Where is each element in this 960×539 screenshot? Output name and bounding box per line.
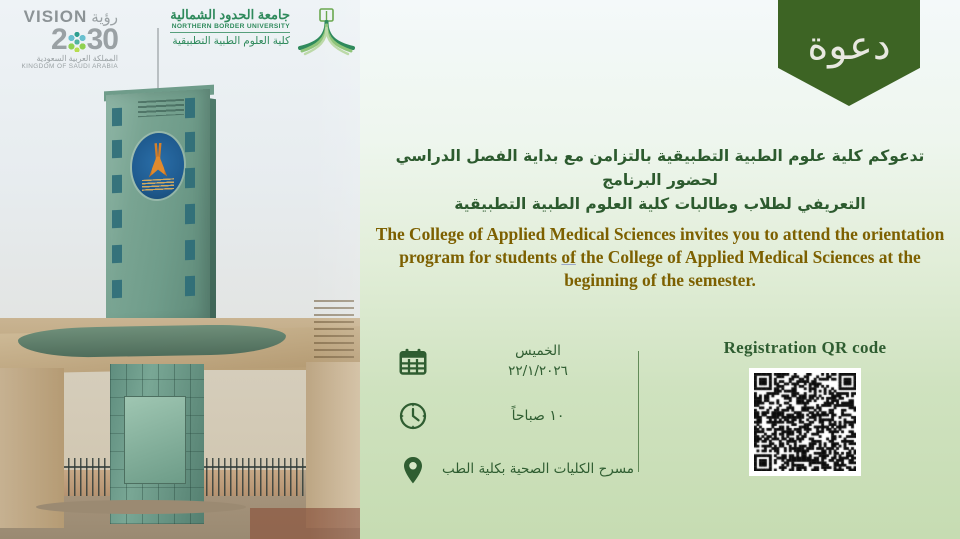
- tower-window: [185, 204, 195, 225]
- registration-qr-section: Registration QR code: [670, 338, 940, 476]
- headline-arabic-line-1: تدعوكم كلية علوم الطبية التطبيقية بالتزا…: [370, 144, 950, 192]
- detail-date-text: الخميس ٢٢/١/٢٠٢٦: [438, 342, 638, 381]
- location-icon-cell: [388, 455, 438, 485]
- detail-time-text: ١٠ صباحاً: [438, 406, 638, 426]
- university-name-en: NORTHERN BORDER UNIVERSITY: [170, 23, 290, 30]
- headline-english: The College of Applied Medical Sciences …: [370, 223, 950, 292]
- qr-code-box[interactable]: [749, 368, 861, 476]
- clock-icon-cell: [388, 401, 438, 431]
- invitation-badge-label: دعوة: [807, 26, 890, 66]
- vision-number-left: 2: [51, 23, 67, 56]
- invitation-badge: دعوة: [778, 0, 920, 106]
- calendar-icon-cell: [388, 347, 438, 377]
- headline-english-underlined: of: [561, 247, 576, 267]
- tower-window: [112, 175, 122, 194]
- university-logo: جامعة الحدود الشمالية NORTHERN BORDER UN…: [168, 6, 356, 68]
- detail-row-location: مسرح الكليات الصحية بكلية الطب: [388, 450, 638, 490]
- tower-window: [112, 140, 122, 159]
- headline-block: تدعوكم كلية علوم الطبية التطبيقية بالتزا…: [370, 144, 950, 292]
- vision-number-right: 30: [87, 23, 118, 56]
- tower-window: [185, 240, 195, 261]
- tower-window: [185, 168, 195, 189]
- university-mark-icon: [296, 8, 356, 60]
- logo-bar: VISION رؤية 230 المملكة العربية السعودية…: [0, 0, 360, 80]
- calendar-icon: [398, 347, 428, 377]
- logo-divider: [170, 32, 290, 33]
- detail-date-day: الخميس: [438, 342, 638, 362]
- detail-date-value: ٢٢/١/٢٠٢٦: [438, 362, 638, 382]
- red-paving: [250, 508, 360, 539]
- vision-subtitle-en: KINGDOM OF SAUDI ARABIA: [8, 63, 118, 70]
- event-details: الخميس ٢٢/١/٢٠٢٦ ١٠ صباحاً: [388, 342, 638, 504]
- location-pin-icon: [398, 455, 428, 485]
- tower-window: [185, 98, 195, 119]
- tower-window: [112, 108, 122, 127]
- campus-photo: VISION رؤية 230 المملكة العربية السعودية…: [0, 0, 360, 539]
- invitation-poster: VISION رؤية 230 المملكة العربية السعودية…: [0, 0, 960, 539]
- clock-icon: [398, 401, 428, 431]
- content-panel: دعوة تدعوكم كلية علوم الطبية التطبيقية ب…: [360, 0, 960, 539]
- headline-arabic-line-2: التعريفي لطلاب وطالبات كلية العلوم الطبي…: [370, 192, 950, 216]
- tower-window: [112, 245, 122, 264]
- detail-row-time: ١٠ صباحاً: [388, 396, 638, 436]
- qr-title: Registration QR code: [670, 338, 940, 358]
- headline-english-part2: the College of Applied Medical Sciences …: [564, 247, 921, 290]
- detail-row-date: الخميس ٢٢/١/٢٠٢٦: [388, 342, 638, 382]
- college-name-ar: كلية العلوم الطبية التطبيقية: [170, 35, 290, 48]
- vision-2030-logo: VISION رؤية 230 المملكة العربية السعودية…: [8, 8, 118, 74]
- section-divider: [638, 351, 639, 472]
- plaza-curb: [36, 500, 246, 514]
- tower-signage: [138, 99, 184, 117]
- university-name-ar: جامعة الحدود الشمالية: [170, 8, 290, 23]
- gate-pillar-right: [306, 362, 360, 528]
- detail-location-text: مسرح الكليات الصحية بكلية الطب: [438, 460, 638, 480]
- tower-window: [112, 210, 122, 229]
- tower-window: [185, 276, 195, 297]
- tower-window: [185, 132, 195, 153]
- registration-qr-code[interactable]: [754, 373, 856, 471]
- tower-window: [112, 280, 122, 299]
- entrance-door: [124, 396, 186, 484]
- saudi-palm-emblem-icon: [67, 32, 87, 52]
